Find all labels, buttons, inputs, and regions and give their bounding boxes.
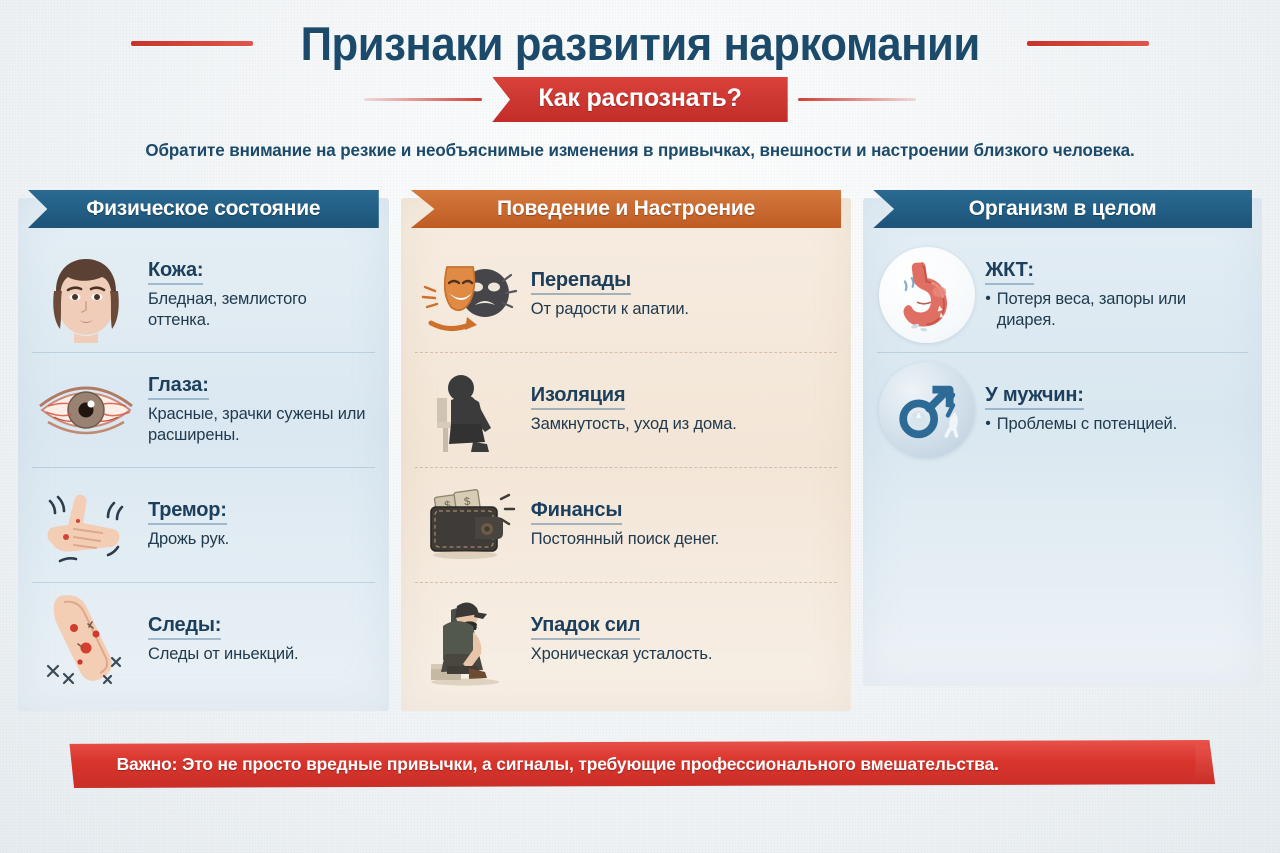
injection-marks-arm-icon [34,592,138,688]
item-title: ЖКТ: [985,259,1034,285]
infographic-poster: Признаки развития наркомании Как распозн… [0,0,1280,853]
trembling-hand-icon [34,477,138,573]
male-symbol-icon [879,362,975,458]
theater-masks-icon [417,247,521,343]
item-title: У мужчин: [985,384,1083,410]
item-desc: Потеря веса, запоры или диарея. [997,289,1246,331]
title-dash-right [1027,41,1149,46]
bullet-dot: • [985,414,990,435]
column-ribbon-physical: Физическое состояние [28,190,379,228]
item-title: Кожа: [148,259,203,285]
title-row: Признаки развития наркомании [0,16,1280,71]
item-desc: Красные, зрачки сужены или расширены. [148,404,373,446]
item-desc: Проблемы с потенцией. [997,414,1177,435]
page-title: Признаки развития наркомании [300,16,979,71]
item-text: У мужчин: • Проблемы с потенцией. [985,384,1246,435]
item-desc: От радости к апатии. [531,299,836,320]
item-desc: Бледная, землистого оттенка. [148,289,373,331]
panel-behavior: Перепады От радости к апатии. [401,198,852,711]
item-title: Перепады [531,269,631,295]
item-text: Кожа: Бледная, землистого оттенка. [148,259,373,331]
item-desc: Постоянный поиск денег. [531,529,836,550]
item-title: Финансы [531,499,622,525]
wallet-money-icon: $ $ [417,477,521,573]
item-text: ЖКТ: • Потеря веса, запоры или диарея. [985,259,1246,331]
exhausted-man-icon [417,592,521,688]
badge-dash-left [364,98,482,101]
item-text: Тремор: Дрожь рук. [148,499,373,550]
footer-banner: Важно: Это не просто вредные привычки, а… [62,740,1218,788]
item-text: Перепады От радости к апатии. [531,269,836,320]
item-title: Упадок сил [531,614,641,640]
item-text: Финансы Постоянный поиск денег. [531,499,836,550]
subtitle-badge: Как распознать? [492,77,787,122]
panel-whole-body: ЖКТ: • Потеря веса, запоры или диарея. [863,198,1262,686]
item-title: Тремор: [148,499,227,525]
list-item: Следы: Следы от иньекций. [32,582,375,697]
list-item: Тремор: Дрожь рук. [32,467,375,582]
footer-text: Важно: Это не просто вредные привычки, а… [117,754,999,775]
isolated-person-icon [417,362,521,458]
woman-face-icon [34,247,138,343]
title-dash-left [131,41,253,46]
column-behavior: Поведение и Настроение [401,198,852,711]
item-text: Следы: Следы от иньекций. [148,614,373,665]
footer-ribbon: Важно: Это не просто вредные привычки, а… [65,740,1215,788]
item-title: Следы: [148,614,221,640]
item-bullet: • Потеря веса, запоры или диарея. [985,289,1246,331]
lede-text: Обратите внимание на резкие и необъясним… [19,140,1261,161]
list-item: Изоляция Замкнутость, уход из дома. [415,352,838,467]
columns-container: Физическое состояние [0,198,1280,711]
list-item: Перепады От радости к апатии. [415,238,838,352]
panel-physical: Кожа: Бледная, землистого оттенка. [18,198,389,711]
item-bullet: • Проблемы с потенцией. [985,414,1246,435]
stomach-icon [879,247,975,343]
item-desc: Хроническая усталость. [531,644,836,665]
red-eye-icon [34,362,138,458]
item-desc: Следы от иньекций. [148,644,373,665]
item-text: Упадок сил Хроническая усталость. [531,614,836,665]
list-item: У мужчин: • Проблемы с потенцией. [877,352,1248,467]
list-item: Упадок сил Хроническая усталость. [415,582,838,697]
column-ribbon-whole-body: Организм в целом [873,190,1252,228]
item-desc: Замкнутость, уход из дома. [531,414,836,435]
badge-dash-right [798,98,916,101]
item-text: Глаза: Красные, зрачки сужены или расшир… [148,374,373,446]
poster-header: Признаки развития наркомании Как распозн… [0,0,1280,161]
list-item: Кожа: Бледная, землистого оттенка. [32,238,375,352]
subtitle-row: Как распознать? [0,77,1280,122]
column-ribbon-behavior: Поведение и Настроение [411,190,842,228]
list-item: Глаза: Красные, зрачки сужены или расшир… [32,352,375,467]
column-physical: Физическое состояние [18,198,389,711]
column-whole-body: Организм в целом [863,198,1262,711]
item-desc: Дрожь рук. [148,529,373,550]
list-item: ЖКТ: • Потеря веса, запоры или диарея. [877,238,1248,352]
item-title: Глаза: [148,374,209,400]
item-title: Изоляция [531,384,626,410]
list-item: $ $ [415,467,838,582]
item-text: Изоляция Замкнутость, уход из дома. [531,384,836,435]
footer-ribbon-tail [1195,744,1229,784]
bullet-dot: • [985,289,990,310]
